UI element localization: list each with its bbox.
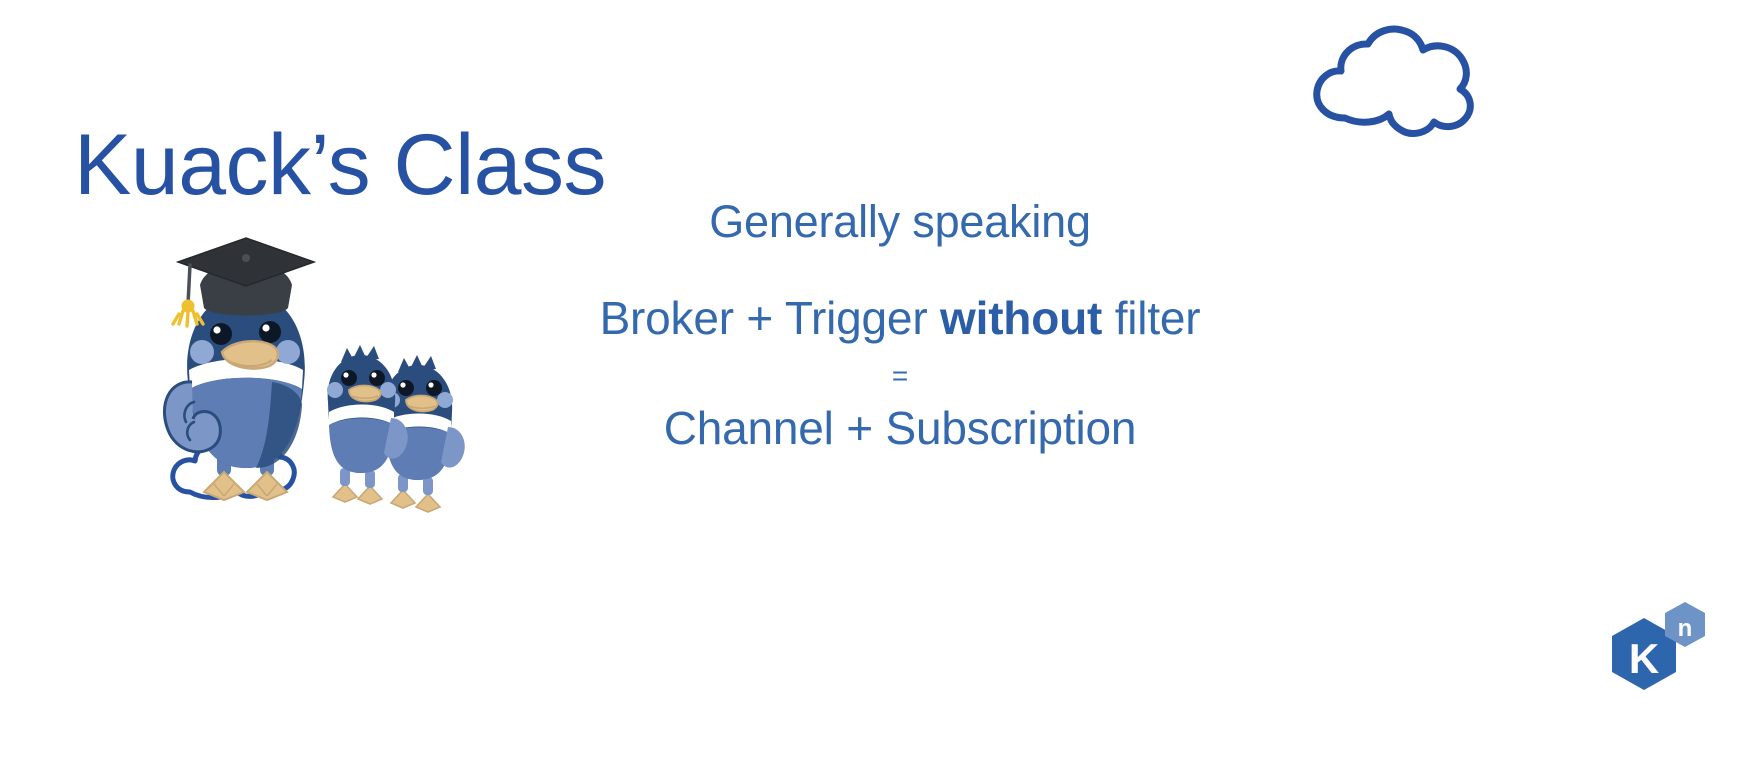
result-line: Channel + Subscription (520, 402, 1280, 455)
equation-suffix: filter (1102, 292, 1200, 344)
intro-line: Generally speaking (520, 196, 1280, 248)
graduate-bird-mascot (160, 222, 505, 522)
cloud-outline-icon (1308, 23, 1488, 138)
logo-primary-letter: K (1629, 635, 1659, 682)
body-text-block: Generally speaking Broker + Trigger with… (520, 196, 1280, 455)
logo-secondary-letter: n (1678, 615, 1693, 642)
kn-hexagon-logo: K n (1602, 596, 1712, 700)
slide-canvas: Kuack’s Class (0, 0, 1742, 762)
equation-emphasis: without (940, 292, 1102, 344)
equation-line: Broker + Trigger without filter (520, 292, 1280, 345)
equation-prefix: Broker + Trigger (600, 292, 940, 344)
equals-sign: = (520, 360, 1280, 392)
